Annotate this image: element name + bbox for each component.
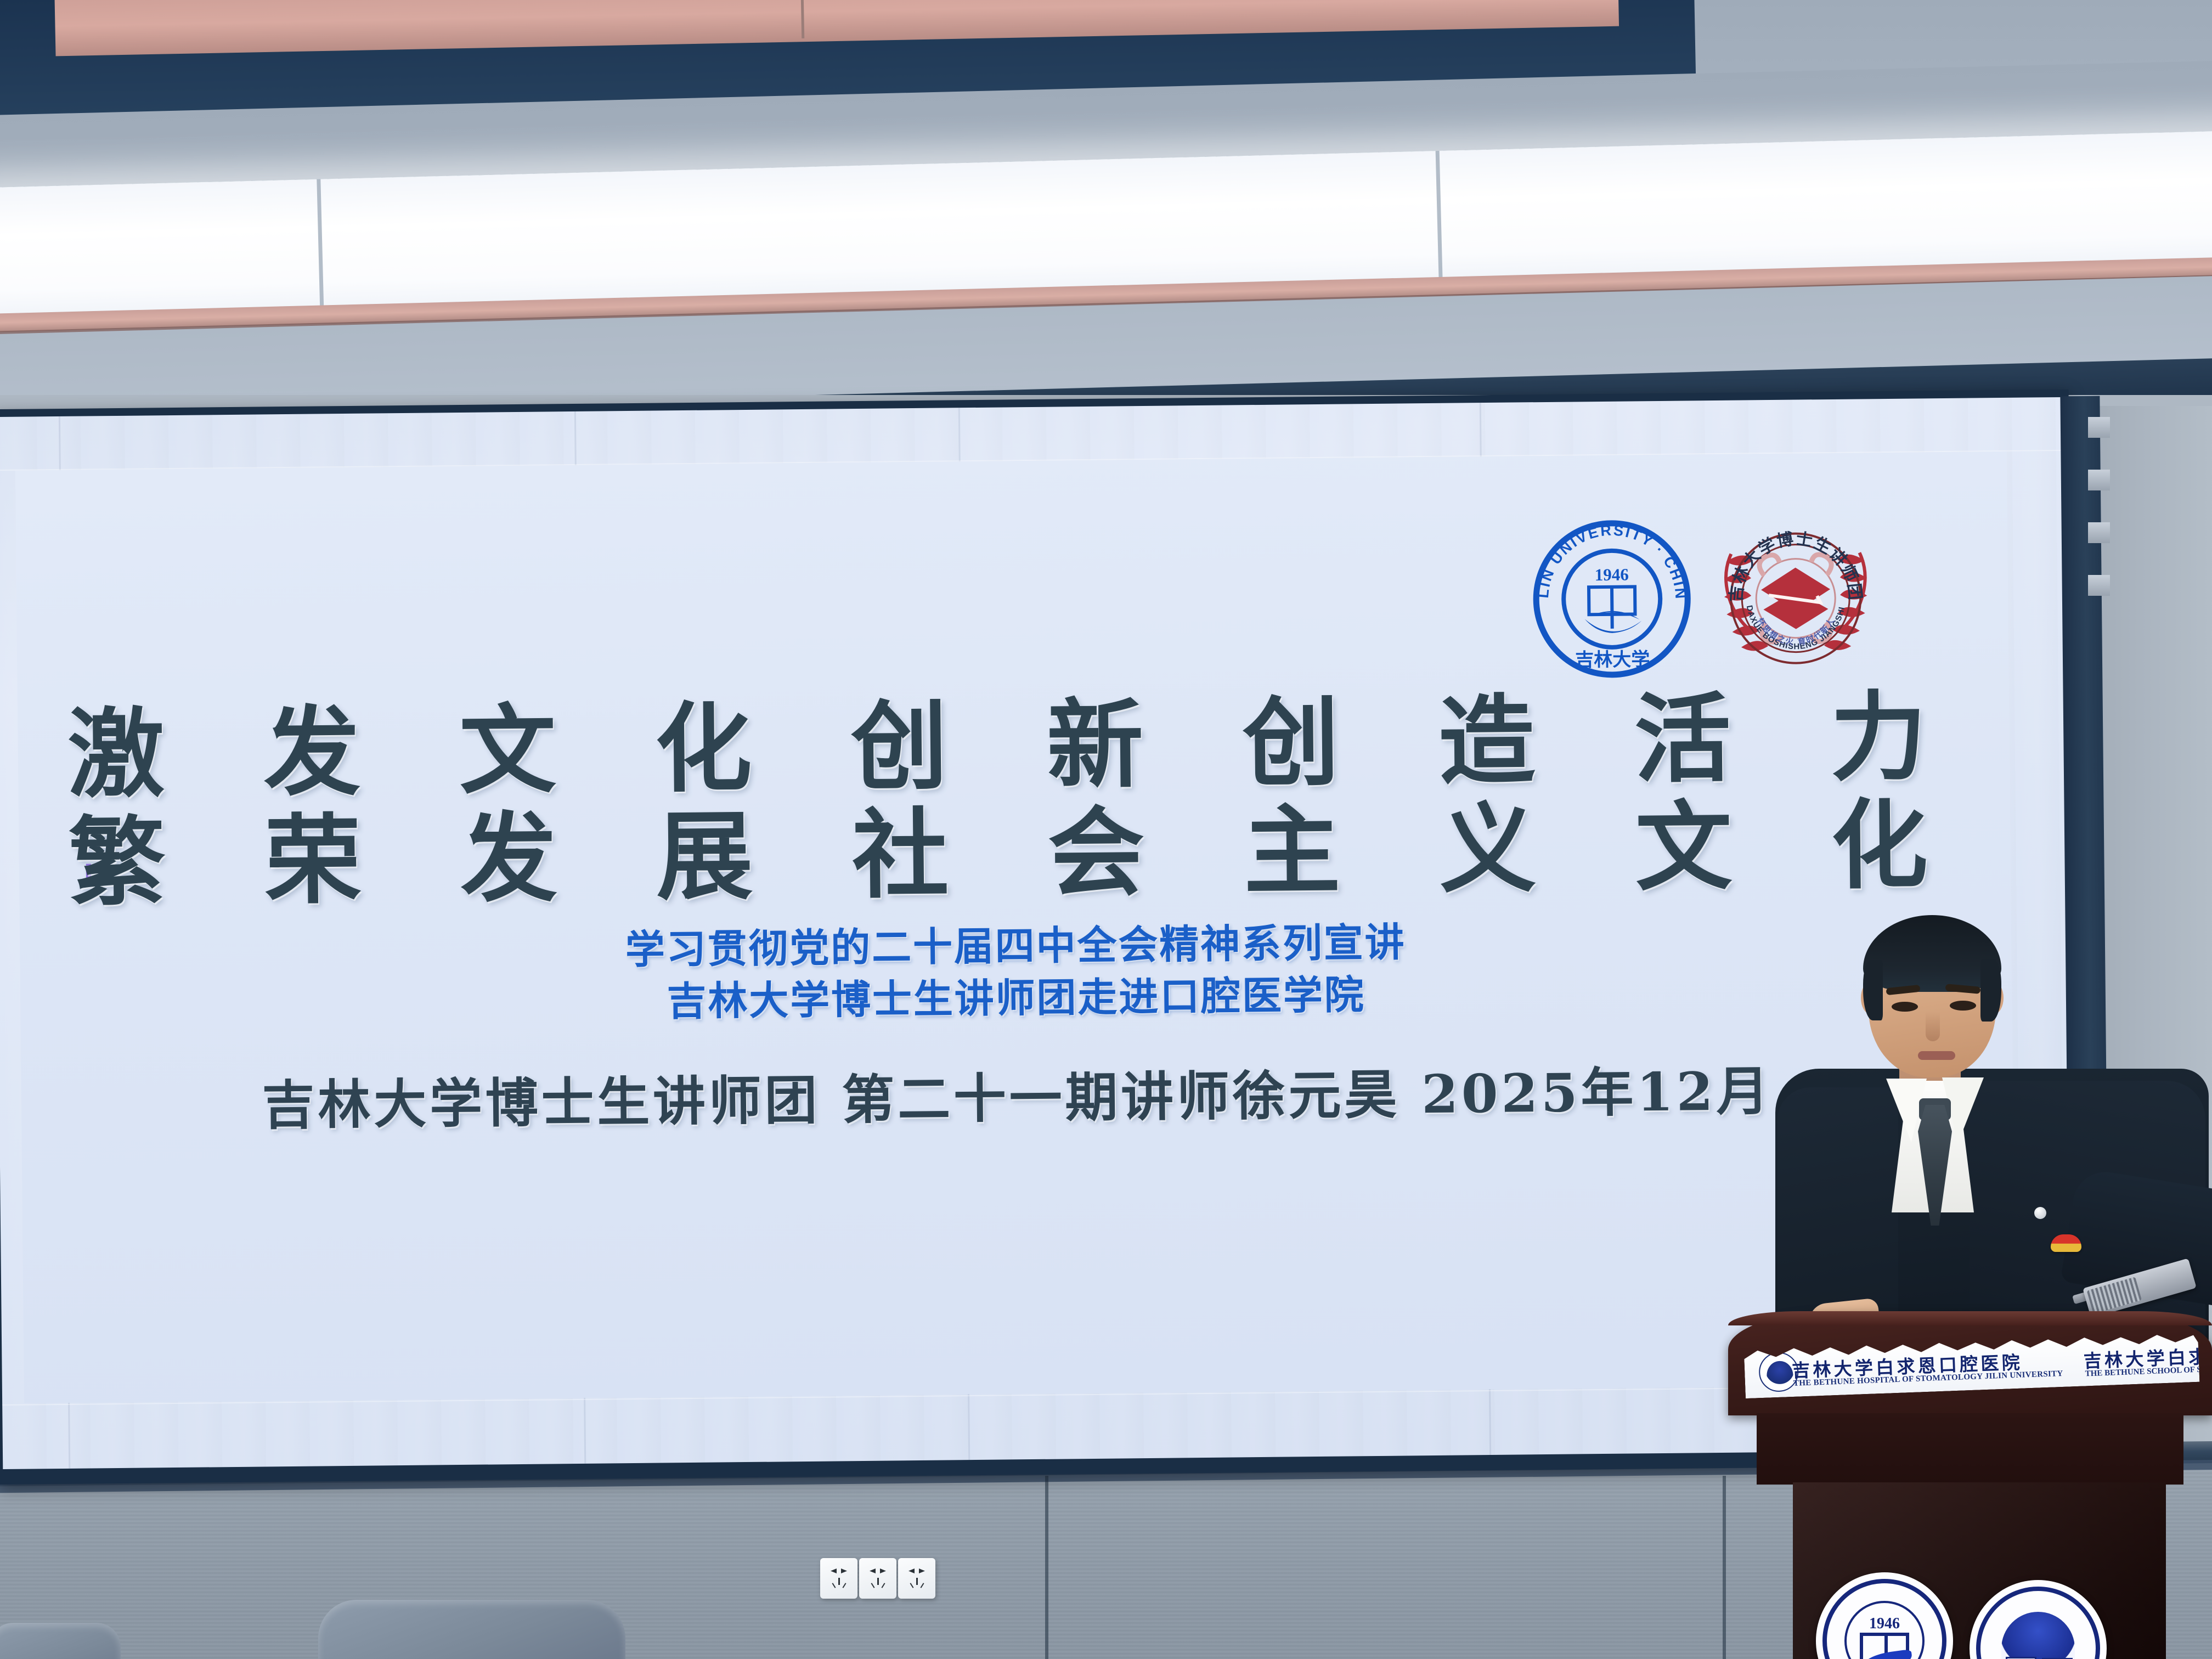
svg-text:JILIN UNIVERSITY · CHINA: JILIN UNIVERSITY · CHINA: [1531, 518, 1689, 602]
nose: [1926, 1012, 1940, 1041]
slide-byline: 吉林大学博士生讲师团 第二十一期讲师徐元昊 2025年12月: [21, 1046, 2013, 1142]
projection-screen[interactable]: JILIN UNIVERSITY · CHINA 1946 吉林大学: [0, 397, 2071, 1469]
wall-power-outlets[interactable]: [820, 1558, 935, 1599]
power-outlet-icon[interactable]: [859, 1558, 896, 1599]
svg-text:1946: 1946: [1595, 565, 1629, 585]
chair-back: [0, 1623, 121, 1659]
power-outlet-icon[interactable]: [898, 1558, 935, 1599]
lapel-stud-icon: [2034, 1207, 2046, 1219]
podium-seal-year: 1946: [1816, 1615, 1953, 1633]
podium-top-edge: [1728, 1311, 2212, 1325]
power-outlet-icon[interactable]: [820, 1558, 857, 1599]
photo-scene: JILIN UNIVERSITY · CHINA 1946 吉林大学: [0, 0, 2212, 1659]
eye-right: [1950, 1001, 1976, 1011]
slide-text-block: 激 发 文 化 创 新 创 造 活 力 繁 荣 发 展 社 会 主 义 文 化 …: [18, 682, 2013, 1142]
hair-side-left: [1863, 960, 1883, 1020]
slide-logos: JILIN UNIVERSITY · CHINA 1946 吉林大学: [1531, 514, 1889, 682]
jilin-university-seal-icon: JILIN UNIVERSITY · CHINA 1946 吉林大学: [1531, 518, 1693, 680]
podium: 吉林大学白求恩口腔医院 THE BETHUNE HOSPITAL OF STOM…: [1728, 1311, 2212, 1659]
pillar-reflective-marks: [2088, 417, 2110, 702]
hair-side-right: [1980, 959, 2001, 1022]
svg-text:吉林大学: 吉林大学: [1575, 648, 1650, 671]
wall-panel-seam: [1723, 1476, 1726, 1659]
doctoral-lecture-group-seal-icon: 吉林大学博士生讲师团 JILINDAXUE BOSHISHENG JIANGSH…: [1702, 514, 1889, 680]
wall-panel-seam: [1045, 1476, 1048, 1659]
presentation-slide: JILIN UNIVERSITY · CHINA 1946 吉林大学: [15, 452, 2016, 1403]
chair-back: [318, 1600, 625, 1659]
eye-left: [1892, 1002, 1918, 1012]
slide-title-line-2: 繁 荣 发 展 社 会 主 义 文 化: [19, 790, 2011, 917]
party-flag-lapel-pin-icon: [2051, 1234, 2081, 1252]
podium-midsection: [1757, 1413, 2183, 1485]
mouth: [1918, 1051, 1955, 1060]
